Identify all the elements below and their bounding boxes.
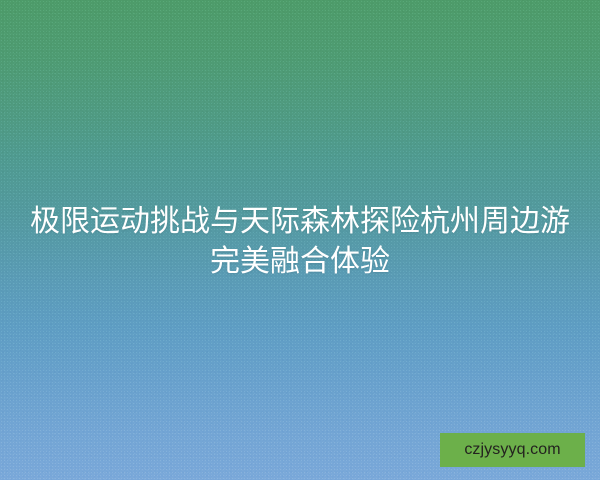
background-gradient bbox=[0, 0, 600, 480]
watermark-badge: czjysyyq.com bbox=[440, 433, 585, 467]
image-card: 极限运动挑战与天际森林探险杭州周边游完美融合体验 czjysyyq.com bbox=[0, 0, 600, 480]
watermark-label: czjysyyq.com bbox=[464, 442, 560, 458]
